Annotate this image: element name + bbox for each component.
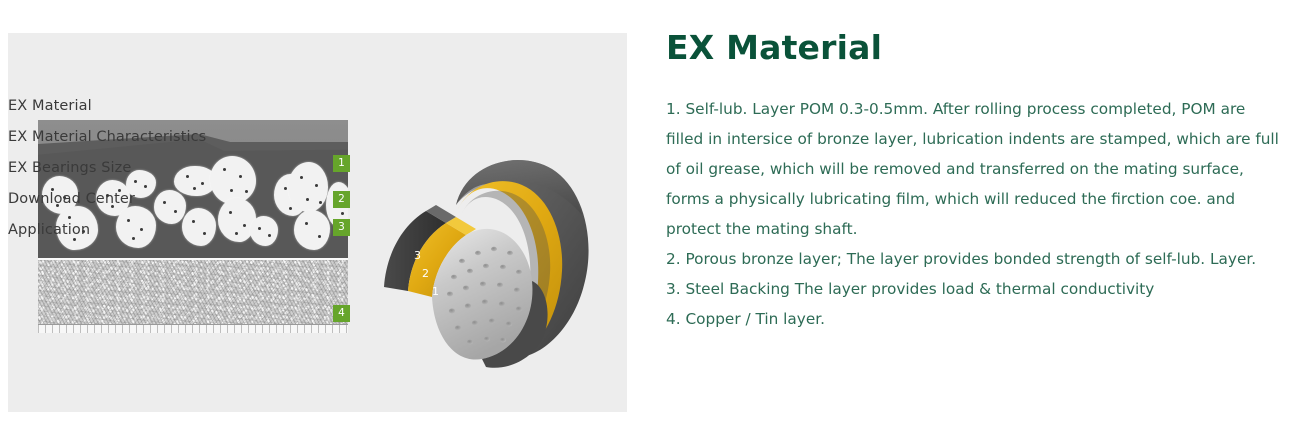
description-line-4: 4. Copper / Tin layer. [666, 304, 1286, 334]
bushing-label-1: 1 [432, 285, 439, 298]
content-column: EX Material 1. Self-lub. Layer POM 0.3-0… [666, 30, 1286, 334]
description-line-3: 3. Steel Backing The layer provides load… [666, 274, 1286, 304]
page-title: EX Material [666, 30, 1286, 66]
description-line-2: 2. Porous bronze layer; The layer provid… [666, 244, 1286, 274]
badge-2: 2 [333, 191, 350, 208]
sidebar-item-ex-material-characteristics[interactable]: EX Material Characteristics [0, 122, 300, 153]
sidebar-nav: EX Material EX Material Characteristics … [0, 91, 300, 246]
description-paragraph-1: 1. Self-lub. Layer POM 0.3-0.5mm. After … [666, 94, 1284, 244]
micrograph-sinter-layer [38, 258, 348, 326]
sidebar-item-ex-bearings-size[interactable]: EX Bearings Size [0, 153, 300, 184]
badge-3: 3 [333, 219, 350, 236]
bushing-diagram: 3 2 1 [370, 145, 610, 377]
micrograph-steel-base [38, 324, 348, 333]
sidebar-item-application[interactable]: Application [0, 215, 300, 246]
badge-1: 1 [333, 155, 350, 172]
micrograph-base-texture [38, 325, 348, 333]
sidebar-item-ex-material[interactable]: EX Material [0, 91, 300, 122]
sidebar-item-download-center[interactable]: Download Center [0, 184, 300, 215]
bushing-label-3: 3 [414, 249, 421, 262]
micrograph-grain-texture [38, 260, 348, 326]
bushing-label-2: 2 [422, 267, 429, 280]
badge-4: 4 [333, 305, 350, 322]
